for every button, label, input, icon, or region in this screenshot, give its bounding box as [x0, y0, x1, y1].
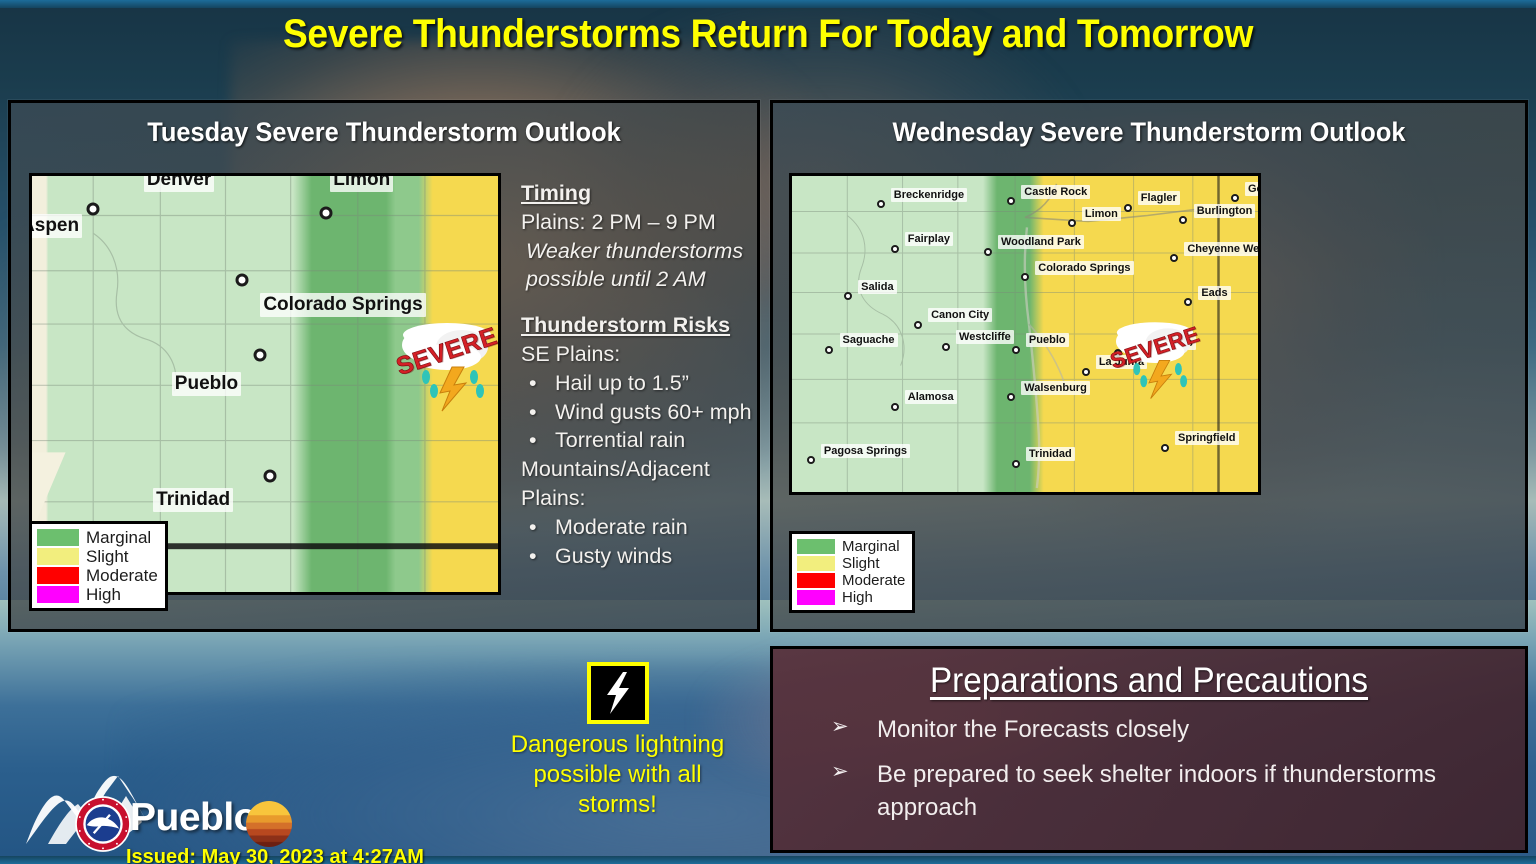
- legend-swatch-high: [797, 590, 835, 605]
- city-label: Castle Rock: [1021, 185, 1090, 199]
- city-marker: [1231, 194, 1239, 202]
- office-name-label: Pueblo: [130, 796, 257, 840]
- city-label: Pueblo: [1026, 333, 1069, 347]
- city-label: Cheyenne Wells: [1184, 242, 1261, 256]
- city-marker: [1012, 460, 1020, 468]
- tuesday-risks-group2-label-2: Plains:: [521, 484, 769, 513]
- legend-swatch-slight: [37, 548, 79, 565]
- city-label: Denver: [144, 173, 214, 192]
- city-marker: [877, 200, 885, 208]
- city-label: Limon: [330, 173, 393, 192]
- legend-row: Slight: [797, 556, 905, 571]
- bullet-marker: •: [521, 398, 555, 427]
- city-label: Trinidad: [153, 488, 233, 512]
- city-marker: [1082, 368, 1090, 376]
- tuesday-panel-title: Tuesday Severe Thunderstorm Outlook: [33, 117, 734, 148]
- city-marker: [1007, 393, 1015, 401]
- legend-row: High: [37, 586, 158, 603]
- city-marker: [984, 248, 992, 256]
- tuesday-timing-note-2: possible until 2 AM: [521, 265, 769, 294]
- tuesday-risk-item: • Torrential rain: [521, 426, 769, 455]
- preparations-title: Preparations and Precautions: [792, 661, 1506, 701]
- sun-logo-icon: [246, 801, 292, 847]
- nws-seal-icon: [74, 795, 132, 853]
- city-marker: [1012, 346, 1020, 354]
- legend-label: Moderate: [842, 573, 905, 588]
- lightning-bolt-glyph: [603, 671, 633, 715]
- legend-label: Moderate: [86, 567, 158, 584]
- severe-storm-sticker: SEVERE: [392, 295, 501, 415]
- city-label: Aspen: [29, 214, 82, 238]
- tuesday-timing-heading: Timing: [521, 179, 769, 208]
- tuesday-timing-note-1: Weaker thunderstorms: [521, 237, 769, 266]
- legend-swatch-moderate: [797, 573, 835, 588]
- lightning-caption-line-2: possible with all: [480, 760, 755, 790]
- legend-label: Slight: [842, 556, 880, 571]
- legend-swatch-moderate: [37, 567, 79, 584]
- wednesday-panel-title: Wednesday Severe Thunderstorm Outlook: [796, 117, 1503, 148]
- tuesday-timing-line: Plains: 2 PM – 9 PM: [521, 208, 769, 237]
- lightning-caption-line-3: storms!: [480, 790, 755, 820]
- severe-storm-sticker: SEVERE: [1107, 298, 1203, 402]
- city-marker: [1170, 254, 1178, 262]
- city-marker: [1068, 219, 1076, 227]
- preparations-panel: Preparations and Precautions ➢ Monitor t…: [770, 646, 1528, 853]
- wednesday-outlook-panel: Wednesday Severe Thunderstorm Outlook: [770, 100, 1528, 632]
- tuesday-risk-item: • Wind gusts 60+ mph: [521, 398, 769, 427]
- bullet-marker: •: [521, 513, 555, 542]
- tuesday-risks-heading: Thunderstorm Risks: [521, 311, 769, 340]
- legend-row: Marginal: [797, 539, 905, 554]
- legend-row: Moderate: [37, 567, 158, 584]
- city-label: Springfield: [1175, 431, 1238, 445]
- city-marker: [235, 274, 248, 287]
- city-label: Pueblo: [172, 372, 241, 396]
- legend-row: Marginal: [37, 529, 158, 546]
- page-title: Severe Thunderstorms Return For Today an…: [54, 12, 1482, 57]
- tuesday-risks-group2-label-1: Mountains/Adjacent: [521, 455, 769, 484]
- tuesday-risks-group1-label: SE Plains:: [521, 340, 769, 369]
- arrow-bullet-icon: ➢: [831, 758, 877, 824]
- city-marker: [825, 346, 833, 354]
- city-marker: [891, 245, 899, 253]
- city-marker: [1161, 444, 1169, 452]
- city-marker: [86, 203, 99, 216]
- tuesday-risk-item: • Hail up to 1.5”: [521, 369, 769, 398]
- city-label: Canon City: [928, 308, 992, 322]
- tuesday-outlook-panel: Tuesday Severe Thunderstorm Outlook: [8, 100, 760, 632]
- risk-text: Hail up to 1.5”: [555, 369, 769, 398]
- legend-swatch-marginal: [37, 529, 79, 546]
- legend-label: High: [86, 586, 121, 603]
- risk-text: Wind gusts 60+ mph: [555, 398, 769, 427]
- city-label: Fairplay: [905, 232, 953, 246]
- legend-swatch-marginal: [797, 539, 835, 554]
- city-label: Saguache: [840, 333, 898, 347]
- wednesday-risk-legend: Marginal Slight Moderate High: [789, 531, 915, 613]
- bullet-marker: •: [521, 542, 555, 571]
- top-accent-strip: [0, 0, 1536, 8]
- city-label: Salida: [858, 280, 896, 294]
- city-marker: [914, 321, 922, 329]
- lightning-warning-caption: Dangerous lightning possible with all st…: [480, 730, 755, 819]
- tuesday-risk-item: • Gusty winds: [521, 542, 769, 571]
- graphic-canvas: Severe Thunderstorms Return For Today an…: [0, 0, 1536, 864]
- preparation-item: ➢ Be prepared to seek shelter indoors if…: [831, 758, 1499, 824]
- preparation-item: ➢ Monitor the Forecasts closely: [831, 713, 1499, 746]
- city-label: Alamosa: [905, 390, 957, 404]
- city-label: Woodland Park: [998, 235, 1084, 249]
- legend-swatch-slight: [797, 556, 835, 571]
- city-marker: [1124, 204, 1132, 212]
- lightning-bolt-icon: [587, 662, 649, 724]
- city-marker: [942, 343, 950, 351]
- legend-swatch-high: [37, 586, 79, 603]
- tuesday-risk-legend: Marginal Slight Moderate High: [29, 521, 168, 611]
- bullet-marker: •: [521, 369, 555, 398]
- risk-text: Torrential rain: [555, 426, 769, 455]
- preparation-text: Monitor the Forecasts closely: [877, 713, 1499, 746]
- lightning-warning-block: Dangerous lightning possible with all st…: [480, 662, 755, 819]
- city-label: Westcliffe: [956, 330, 1014, 344]
- legend-label: Marginal: [842, 539, 900, 554]
- legend-row: Moderate: [797, 573, 905, 588]
- city-marker: [1179, 216, 1187, 224]
- city-marker: [254, 348, 267, 361]
- city-label: Colorado Springs: [1035, 261, 1133, 275]
- tuesday-risk-item: • Moderate rain: [521, 513, 769, 542]
- city-label: Breckenridge: [891, 188, 967, 202]
- city-label: Limon: [1082, 207, 1121, 221]
- city-label: Burlington: [1194, 204, 1256, 218]
- wednesday-outlook-map[interactable]: BreckenridgeCastle RockFlaglerGoodlandFa…: [789, 173, 1261, 495]
- city-marker: [263, 469, 276, 482]
- legend-row: Slight: [37, 548, 158, 565]
- legend-label: Slight: [86, 548, 129, 565]
- risk-text: Gusty winds: [555, 542, 769, 571]
- spacer: [521, 294, 769, 311]
- city-label: Goodland: [1245, 182, 1261, 196]
- nws-pueblo-logo-block: Pueblo Issued: May 30, 2023 at 4:27AM: [18, 768, 438, 860]
- city-marker: [891, 403, 899, 411]
- arrow-bullet-icon: ➢: [831, 713, 877, 746]
- risk-text: Moderate rain: [555, 513, 769, 542]
- city-marker: [1021, 273, 1029, 281]
- city-label: Pagosa Springs: [821, 444, 910, 458]
- bullet-marker: •: [521, 426, 555, 455]
- legend-label: High: [842, 590, 873, 605]
- legend-row: High: [797, 590, 905, 605]
- tuesday-details-text: Timing Plains: 2 PM – 9 PM Weaker thunde…: [521, 179, 769, 570]
- city-label: Walsenburg: [1021, 381, 1090, 395]
- city-label: Trinidad: [1026, 447, 1075, 461]
- city-marker: [807, 456, 815, 464]
- city-marker: [1007, 197, 1015, 205]
- issued-timestamp: Issued: May 30, 2023 at 4:27AM: [126, 846, 424, 864]
- preparation-text: Be prepared to seek shelter indoors if t…: [877, 758, 1499, 824]
- legend-label: Marginal: [86, 529, 151, 546]
- lightning-caption-line-1: Dangerous lightning: [480, 730, 755, 760]
- city-marker: [844, 292, 852, 300]
- city-label: Flagler: [1138, 191, 1180, 205]
- city-marker: [319, 207, 332, 220]
